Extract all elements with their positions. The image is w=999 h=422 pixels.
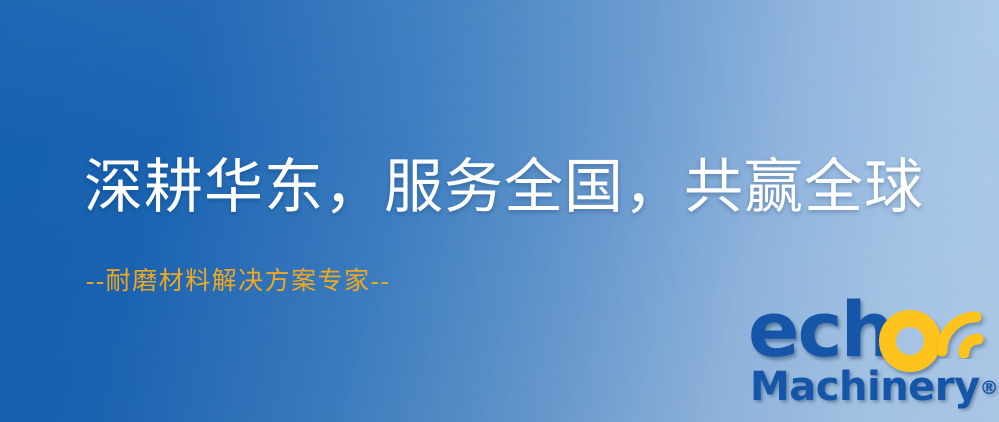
logo-wordmark-echo: ech [748, 292, 893, 368]
logo-sub-wordmark: Machinery® [750, 365, 999, 410]
logo-letter-o-icon [879, 310, 941, 372]
hero-banner: 深耕华东，服务全国，共赢全球 --耐磨材料解决方案专家-- ech Machin… [0, 0, 999, 422]
banner-headline: 深耕华东，服务全国，共赢全球 [84, 152, 924, 222]
banner-subtitle: --耐磨材料解决方案专家-- [86, 266, 390, 298]
signal-waves-icon [934, 291, 999, 359]
registered-trademark-symbol: ® [980, 377, 999, 399]
company-logo: ech Machinery® [748, 296, 999, 422]
logo-sub-text: Machinery [750, 364, 980, 410]
